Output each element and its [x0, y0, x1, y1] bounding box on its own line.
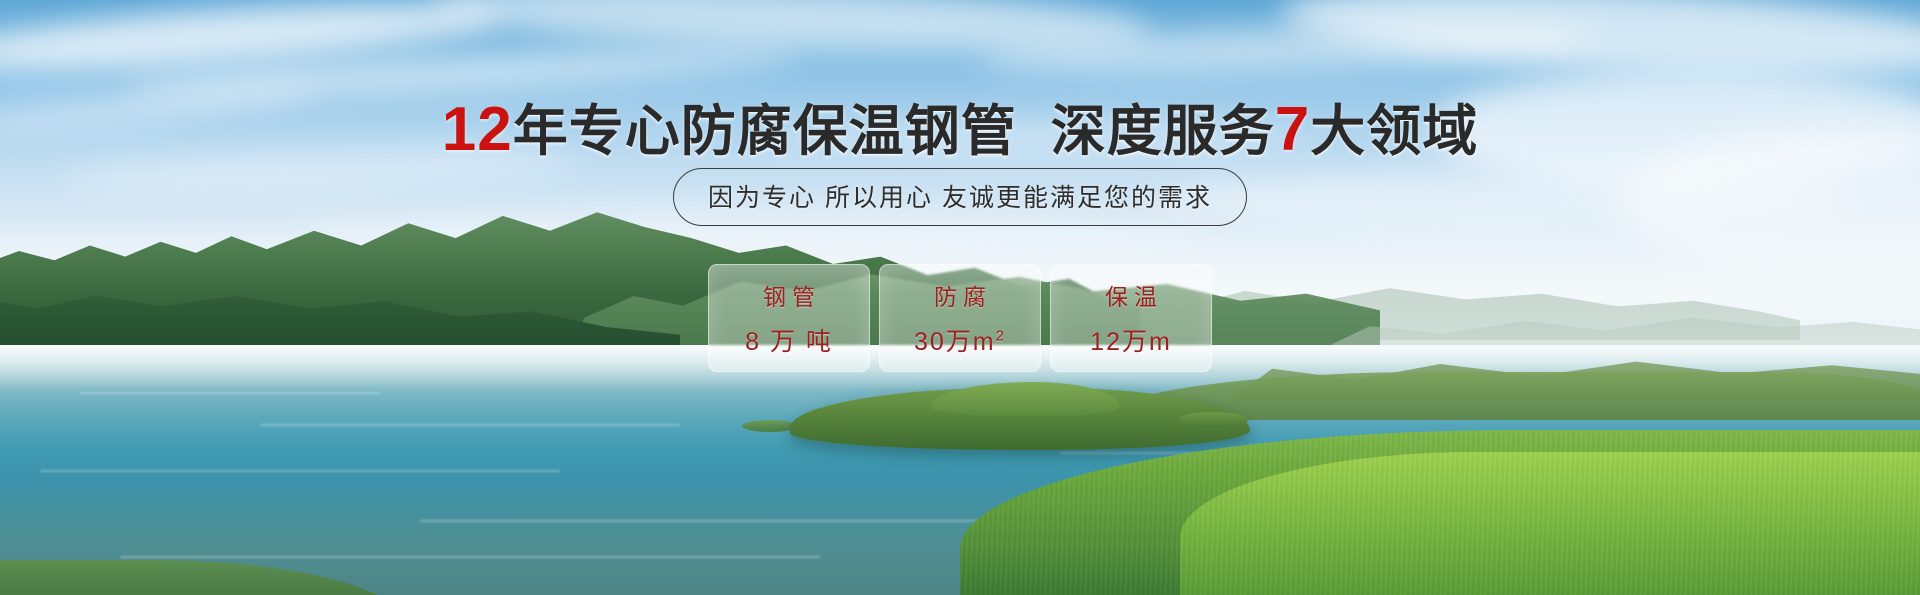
stat-value-superscript: 2 [996, 328, 1006, 345]
headline-fields-number: 7 [1275, 95, 1310, 164]
headline-part-two: 深度服务 [1051, 100, 1275, 162]
water-ripple [80, 392, 380, 394]
stat-label: 钢管 [757, 278, 821, 312]
hero-banner: 12年专心防腐保温钢管深度服务7大领域 因为专心 所以用心 友诚更能满足您的需求… [0, 0, 1920, 595]
water-ripple [260, 424, 680, 426]
stat-label: 防腐 [928, 278, 992, 312]
stat-card-group: 钢管 8 万 吨 防腐 30万m2 保温 12万m [0, 264, 1920, 372]
stat-value: 30万m2 [914, 322, 1006, 358]
stat-card-anticorrosion[interactable]: 防腐 30万m2 [879, 264, 1041, 372]
small-islet [1178, 412, 1248, 428]
headline-part-three: 大领域 [1310, 100, 1478, 162]
stat-value-text: 8 万 吨 [745, 328, 833, 356]
stat-value: 12万m [1090, 322, 1172, 358]
water-ripple [40, 470, 560, 472]
stat-value-text: 30万m [914, 328, 996, 356]
tagline-container: 因为专心 所以用心 友诚更能满足您的需求 [0, 168, 1920, 226]
water-ripple [120, 556, 820, 558]
tagline-pill: 因为专心 所以用心 友诚更能满足您的需求 [673, 168, 1247, 226]
water-ripple [420, 520, 1060, 522]
stat-value: 8 万 吨 [745, 322, 833, 358]
stat-label: 保温 [1099, 278, 1163, 312]
stat-card-steel-pipe[interactable]: 钢管 8 万 吨 [708, 264, 870, 372]
banner-headline: 12年专心防腐保温钢管深度服务7大领域 [0, 86, 1920, 166]
stat-card-insulation[interactable]: 保温 12万m [1050, 264, 1212, 372]
headline-years-number: 12 [442, 95, 513, 164]
headline-part-one: 年专心防腐保温钢管 [513, 100, 1017, 162]
stat-value-text: 12万m [1090, 328, 1172, 356]
